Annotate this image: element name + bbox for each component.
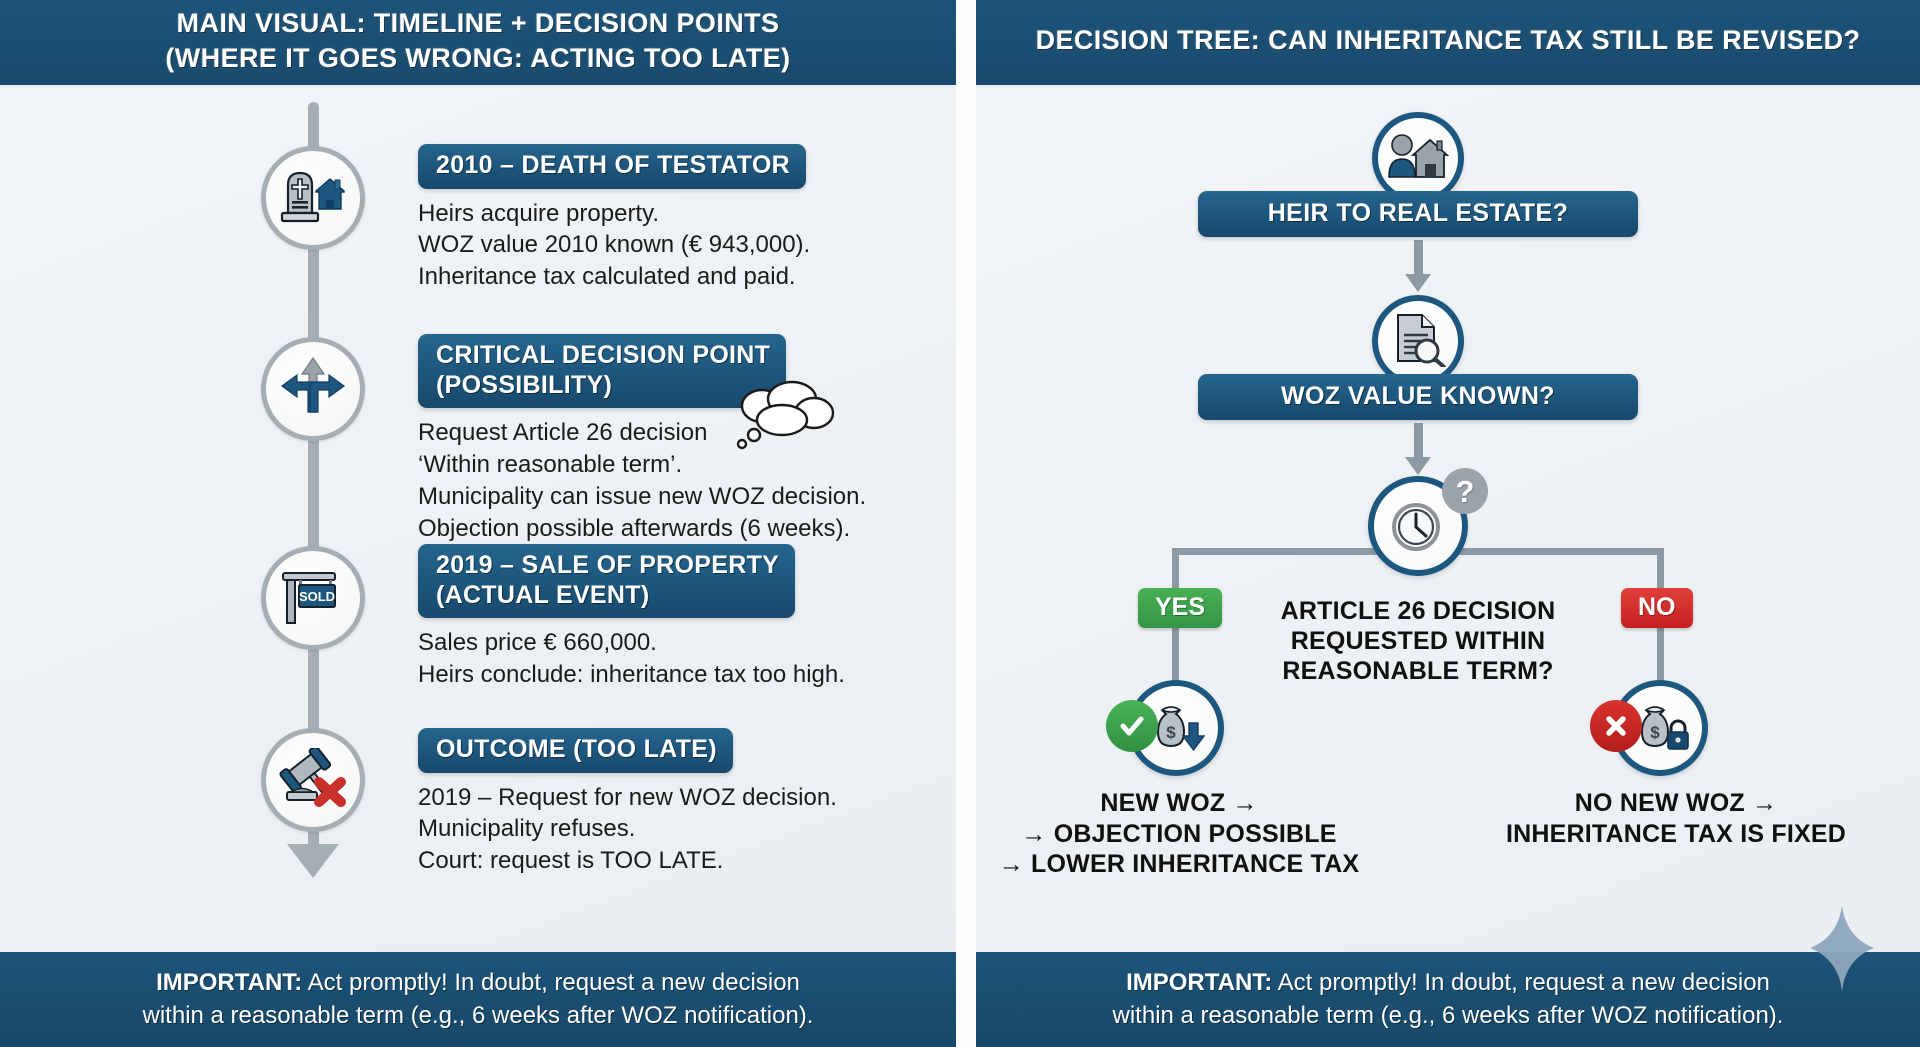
decision-tree-area: HEIR TO REAL ESTATE? <box>976 88 1920 949</box>
sold-sign-icon: SOLD <box>279 565 347 632</box>
left-panel-footer: IMPORTANT: Act promptly! In doubt, reque… <box>0 949 956 1047</box>
right-header-line-1: DECISION TREE: CAN INHERITANCE TAX STILL… <box>1036 23 1861 58</box>
decision-node-1-label[interactable]: HEIR TO REAL ESTATE? <box>1198 191 1638 237</box>
fork-arrows-icon <box>280 356 346 423</box>
decision-node-3-question: ARTICLE 26 DECISION REQUESTED WITHIN REA… <box>1248 596 1588 686</box>
infographic-board: MAIN VISUAL: TIMELINE + DECISION POINTS … <box>0 0 1920 1047</box>
timeline-chip-4: OUTCOME (TOO LATE) <box>418 728 733 773</box>
panel-divider <box>956 0 976 1047</box>
left-header-line-1: MAIN VISUAL: TIMELINE + DECISION POINTS <box>177 6 780 41</box>
connector-arrow-2-icon <box>1405 457 1431 475</box>
left-footer-line-1: IMPORTANT: Act promptly! In doubt, reque… <box>156 967 800 999</box>
thought-bubble-icon <box>720 380 838 454</box>
timeline-node-3[interactable]: SOLD <box>261 546 365 650</box>
right-footer-line-1-rest: Act promptly! In doubt, request a new de… <box>1272 969 1770 996</box>
gravestone-house-icon <box>280 167 346 230</box>
left-header-line-2: (WHERE IT GOES WRONG: ACTING TOO LATE) <box>165 41 790 76</box>
right-footer-important-label: IMPORTANT: <box>1126 969 1272 996</box>
svg-text:$: $ <box>1650 723 1660 742</box>
timeline-body-1: Heirs acquire property. WOZ value 2010 k… <box>418 198 810 294</box>
gavel-cross-icon <box>279 748 347 813</box>
connector-2 <box>1414 423 1423 461</box>
right-footer-line-2: within a reasonable term (e.g., 6 weeks … <box>1113 1000 1784 1032</box>
left-footer-line-1-rest: Act promptly! In doubt, request a new de… <box>302 969 800 996</box>
right-footer-line-1: IMPORTANT: Act promptly! In doubt, reque… <box>1126 967 1770 999</box>
check-badge-icon <box>1106 700 1158 752</box>
timeline-node-4[interactable] <box>261 728 365 832</box>
left-footer-line-2: within a reasonable term (e.g., 6 weeks … <box>143 1000 814 1032</box>
svg-text:$: $ <box>1166 723 1176 742</box>
left-panel: MAIN VISUAL: TIMELINE + DECISION POINTS … <box>0 0 956 1047</box>
svg-text:SOLD: SOLD <box>299 589 335 604</box>
no-tag[interactable]: NO <box>1621 588 1693 628</box>
timeline-area: 2010 – DEATH OF TESTATOR Heirs acquire p… <box>0 88 956 949</box>
connector-1 <box>1414 240 1423 278</box>
right-panel-footer: IMPORTANT: Act promptly! In doubt, reque… <box>976 949 1920 1047</box>
question-mark-badge-icon: ? <box>1442 468 1488 514</box>
timeline-node-1[interactable] <box>261 146 365 250</box>
timeline-item-3: 2019 – SALE OF PROPERTY (ACTUAL EVENT) S… <box>418 544 845 691</box>
timeline-body-4: 2019 – Request for new WOZ decision. Mun… <box>418 782 837 878</box>
left-footer-important-label: IMPORTANT: <box>156 969 302 996</box>
clock-question-icon <box>1387 493 1449 560</box>
right-panel-header: DECISION TREE: CAN INHERITANCE TAX STILL… <box>976 0 1920 88</box>
timeline-chip-1: 2010 – DEATH OF TESTATOR <box>418 144 806 189</box>
heir-house-icon <box>1387 131 1449 186</box>
timeline-chip-3: 2019 – SALE OF PROPERTY (ACTUAL EVENT) <box>418 544 795 618</box>
decision-node-2-label[interactable]: WOZ VALUE KNOWN? <box>1198 374 1638 420</box>
timeline-item-4: OUTCOME (TOO LATE) 2019 – Request for ne… <box>418 728 837 877</box>
yes-outcome-text: NEW WOZ → → OBJECTION POSSIBLE → LOWER I… <box>994 788 1364 880</box>
cross-badge-icon <box>1590 700 1642 752</box>
yes-tag[interactable]: YES <box>1138 588 1222 628</box>
left-panel-header: MAIN VISUAL: TIMELINE + DECISION POINTS … <box>0 0 956 88</box>
no-outcome-text: NO NEW WOZ → INHERITANCE TAX IS FIXED <box>1478 788 1874 849</box>
timeline-end-arrow-icon <box>287 844 339 878</box>
timeline-node-2[interactable] <box>261 337 365 441</box>
timeline-body-3: Sales price € 660,000. Heirs conclude: i… <box>418 627 845 691</box>
document-magnifier-icon <box>1390 311 1446 372</box>
timeline-item-1: 2010 – DEATH OF TESTATOR Heirs acquire p… <box>418 144 810 293</box>
connector-arrow-1-icon <box>1405 274 1431 292</box>
right-panel: DECISION TREE: CAN INHERITANCE TAX STILL… <box>976 0 1920 1047</box>
